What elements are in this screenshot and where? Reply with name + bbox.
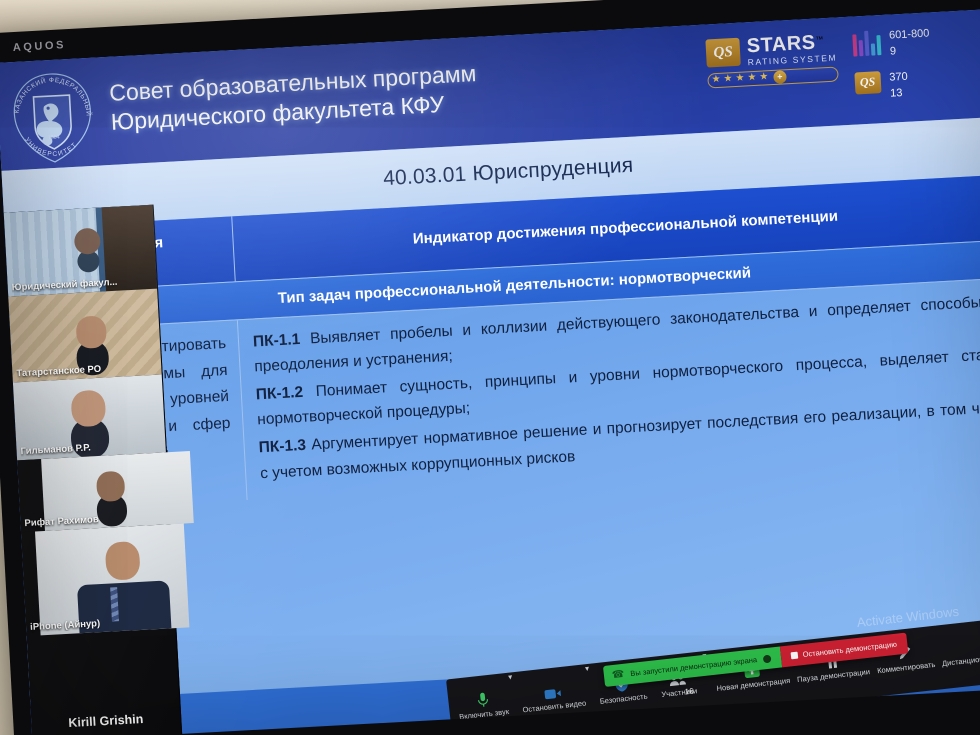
qs-stars-badge: QS STARS™ RATING SYSTEM ★ ★ ★ ★ xyxy=(705,32,838,88)
the-score-value: 9 xyxy=(890,42,931,60)
qs-logo-icon: QS xyxy=(705,38,740,68)
the-rank-value: 601-800 xyxy=(889,26,930,44)
star-icon: ★ xyxy=(723,74,732,84)
participant-tile[interactable]: iPhone (Айнур) xyxy=(21,524,175,636)
star-icon: ★ xyxy=(735,74,744,84)
participant-tile[interactable]: Татарстанское РО xyxy=(8,289,161,383)
chevron-down-icon[interactable]: ▾ xyxy=(585,664,590,673)
participant-tile[interactable]: Рифат Рахимов xyxy=(17,452,170,532)
participant-count: 16 xyxy=(684,687,694,697)
star-icon: ★ xyxy=(759,72,768,82)
the-logo-icon xyxy=(852,29,881,56)
recording-dot-icon xyxy=(762,654,771,663)
video-camera-icon xyxy=(543,682,562,701)
pause-share-label: Пауза демонстрации xyxy=(797,667,871,684)
microphone-icon xyxy=(475,690,490,708)
svg-text:1804: 1804 xyxy=(48,135,60,142)
participant-filmstrip[interactable]: Юридический факул... Татарстанское РО Ги… xyxy=(4,205,184,735)
qs-small-logo-icon: QS xyxy=(854,71,881,94)
indicator-code: ПК-1.2 xyxy=(255,384,303,404)
new-share-label: Новая демонстрация xyxy=(716,676,790,693)
page-title: Совет образовательных программ Юридическ… xyxy=(109,45,731,136)
indicator-code: ПК-1.1 xyxy=(253,331,301,351)
course-code-text: 40.03.01 Юриспруденция xyxy=(383,154,634,192)
active-speaker-name: Kirill Grishin xyxy=(31,710,181,732)
kfu-crest-icon: 1804 КАЗАНСКИЙ ФЕДЕРАЛЬНЫЙ УНИВЕРСИТЕТ xyxy=(2,63,103,168)
stop-video-button[interactable]: Остановить видео xyxy=(517,677,589,714)
indicator-code: ПК-1.3 xyxy=(258,437,306,457)
the-ranking-badge: 601-800 9 xyxy=(852,26,931,62)
security-label: Безопасность xyxy=(599,692,648,706)
qs-star-rating: ★ ★ ★ ★ ★ + xyxy=(707,66,838,88)
zoom-meeting-window: 1804 КАЗАНСКИЙ ФЕДЕРАЛЬНЫЙ УНИВЕРСИТЕТ xyxy=(0,8,980,735)
stop-share-label: Остановить демонстрацию xyxy=(802,640,897,659)
ranking-badges: QS STARS™ RATING SYSTEM ★ ★ ★ ★ xyxy=(705,26,933,112)
remote-control-label: Дистанционное управление xyxy=(942,648,980,668)
television: AQUOS 1804 КАЗАНСКИЙ xyxy=(0,0,980,735)
participant-tile[interactable]: Гильманов Р.Р. xyxy=(13,374,166,460)
phone-icon: ☎ xyxy=(611,669,625,681)
star-icon: ★ xyxy=(711,75,720,85)
annotate-label: Комментировать xyxy=(877,660,936,675)
qs-trademark: ™ xyxy=(815,35,823,44)
kfu-logo: 1804 КАЗАНСКИЙ ФЕДЕРАЛЬНЫЙ УНИВЕРСИТЕТ xyxy=(2,63,103,168)
stop-square-icon xyxy=(790,652,798,660)
chevron-down-icon[interactable]: ▾ xyxy=(508,672,513,681)
star-plus-badge: + xyxy=(773,70,787,84)
qs-score-value: 13 xyxy=(890,85,909,102)
qs-ranking-badge: QS 370 13 xyxy=(854,68,933,104)
star-icon: ★ xyxy=(747,73,756,83)
tv-brand-label: AQUOS xyxy=(12,39,66,54)
tv-screen: 1804 КАЗАНСКИЙ ФЕДЕРАЛЬНЫЙ УНИВЕРСИТЕТ xyxy=(0,8,980,735)
qs-rank-value: 370 xyxy=(889,70,908,87)
participant-video xyxy=(35,523,189,635)
remote-control-button[interactable]: Дистанционное управление xyxy=(937,627,980,668)
participant-tile[interactable]: Юридический факул... xyxy=(4,205,157,297)
